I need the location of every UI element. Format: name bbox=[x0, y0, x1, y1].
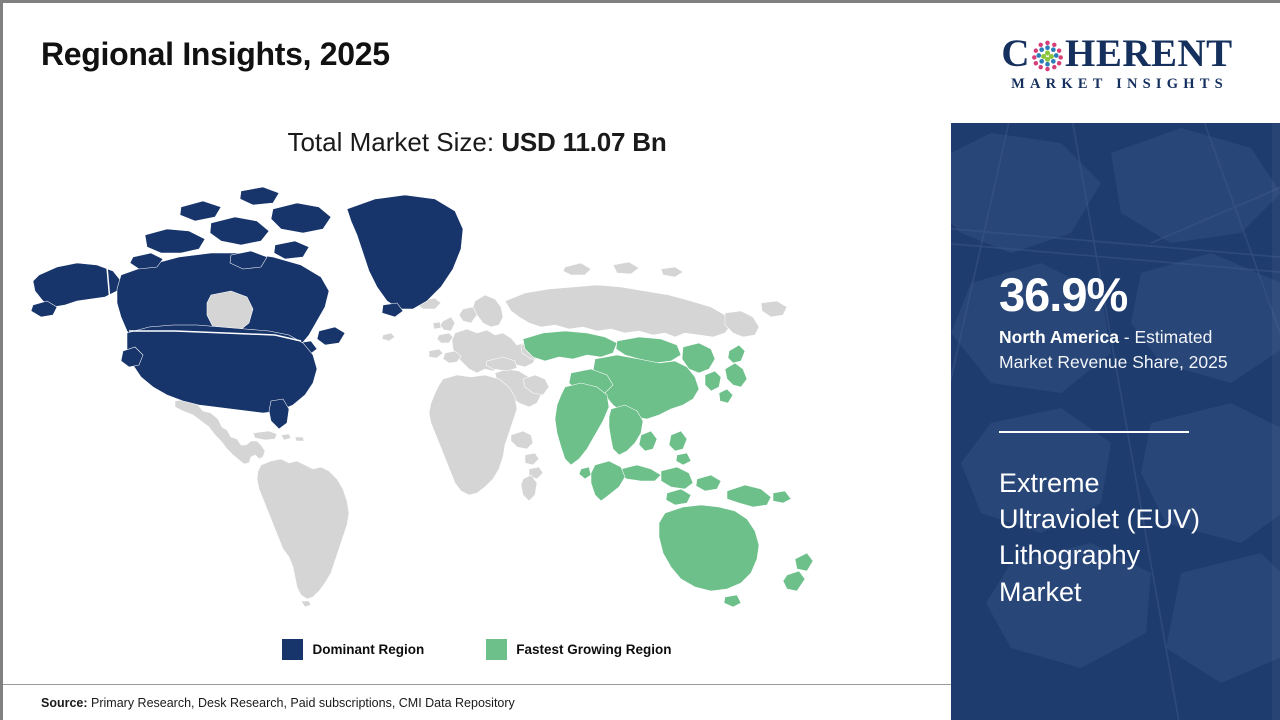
market-size-value: USD 11.07 Bn bbox=[501, 127, 666, 157]
map-region-north-america bbox=[31, 187, 463, 429]
map-legend: Dominant Region Fastest Growing Region bbox=[3, 639, 951, 660]
brand-logo: C bbox=[951, 3, 1280, 123]
source-divider bbox=[3, 684, 951, 685]
legend-swatch-dominant bbox=[282, 639, 303, 660]
total-market-size: Total Market Size: USD 11.07 Bn bbox=[3, 127, 951, 158]
stat-percentage: 36.9% bbox=[999, 271, 1127, 318]
legend-item-dominant: Dominant Region bbox=[282, 639, 424, 660]
source-label: Source: bbox=[41, 696, 88, 710]
brand-tagline: MARKET INSIGHTS bbox=[1006, 77, 1228, 92]
map-region-asia-pacific bbox=[523, 331, 813, 607]
stat-divider-rule bbox=[999, 431, 1189, 433]
source-note: Source: Primary Research, Desk Research,… bbox=[41, 696, 515, 710]
stat-panel: 36.9% North America - Estimated Market R… bbox=[951, 123, 1280, 720]
page-title: Regional Insights, 2025 bbox=[41, 36, 390, 73]
brand-name-first-letter: C bbox=[1001, 34, 1030, 73]
world-map bbox=[25, 183, 905, 623]
panel-right-edge bbox=[1272, 123, 1280, 720]
stat-region-name: North America bbox=[999, 327, 1119, 347]
stat-content: 36.9% North America - Estimated Market R… bbox=[999, 123, 1261, 720]
globe-dots-icon bbox=[1031, 39, 1064, 72]
source-text: Primary Research, Desk Research, Paid su… bbox=[88, 696, 515, 710]
brand-name-rest: HERENT bbox=[1065, 34, 1233, 73]
legend-swatch-fastest-growing bbox=[486, 639, 507, 660]
legend-label-dominant: Dominant Region bbox=[312, 642, 424, 657]
regional-insights-infographic: Regional Insights, 2025 Total Market Siz… bbox=[0, 0, 1280, 720]
left-content-panel: Regional Insights, 2025 Total Market Siz… bbox=[3, 3, 951, 720]
legend-label-fastest-growing: Fastest Growing Region bbox=[516, 642, 671, 657]
right-sidebar: C bbox=[951, 3, 1280, 720]
market-size-label: Total Market Size: bbox=[287, 127, 501, 157]
brand-wordmark: C bbox=[1001, 34, 1232, 73]
legend-item-fastest-growing: Fastest Growing Region bbox=[486, 639, 671, 660]
world-map-svg bbox=[25, 183, 905, 623]
stat-caption: North America - Estimated Market Revenue… bbox=[999, 325, 1247, 375]
market-title: Extreme Ultraviolet (EUV) Lithography Ma… bbox=[999, 465, 1214, 610]
